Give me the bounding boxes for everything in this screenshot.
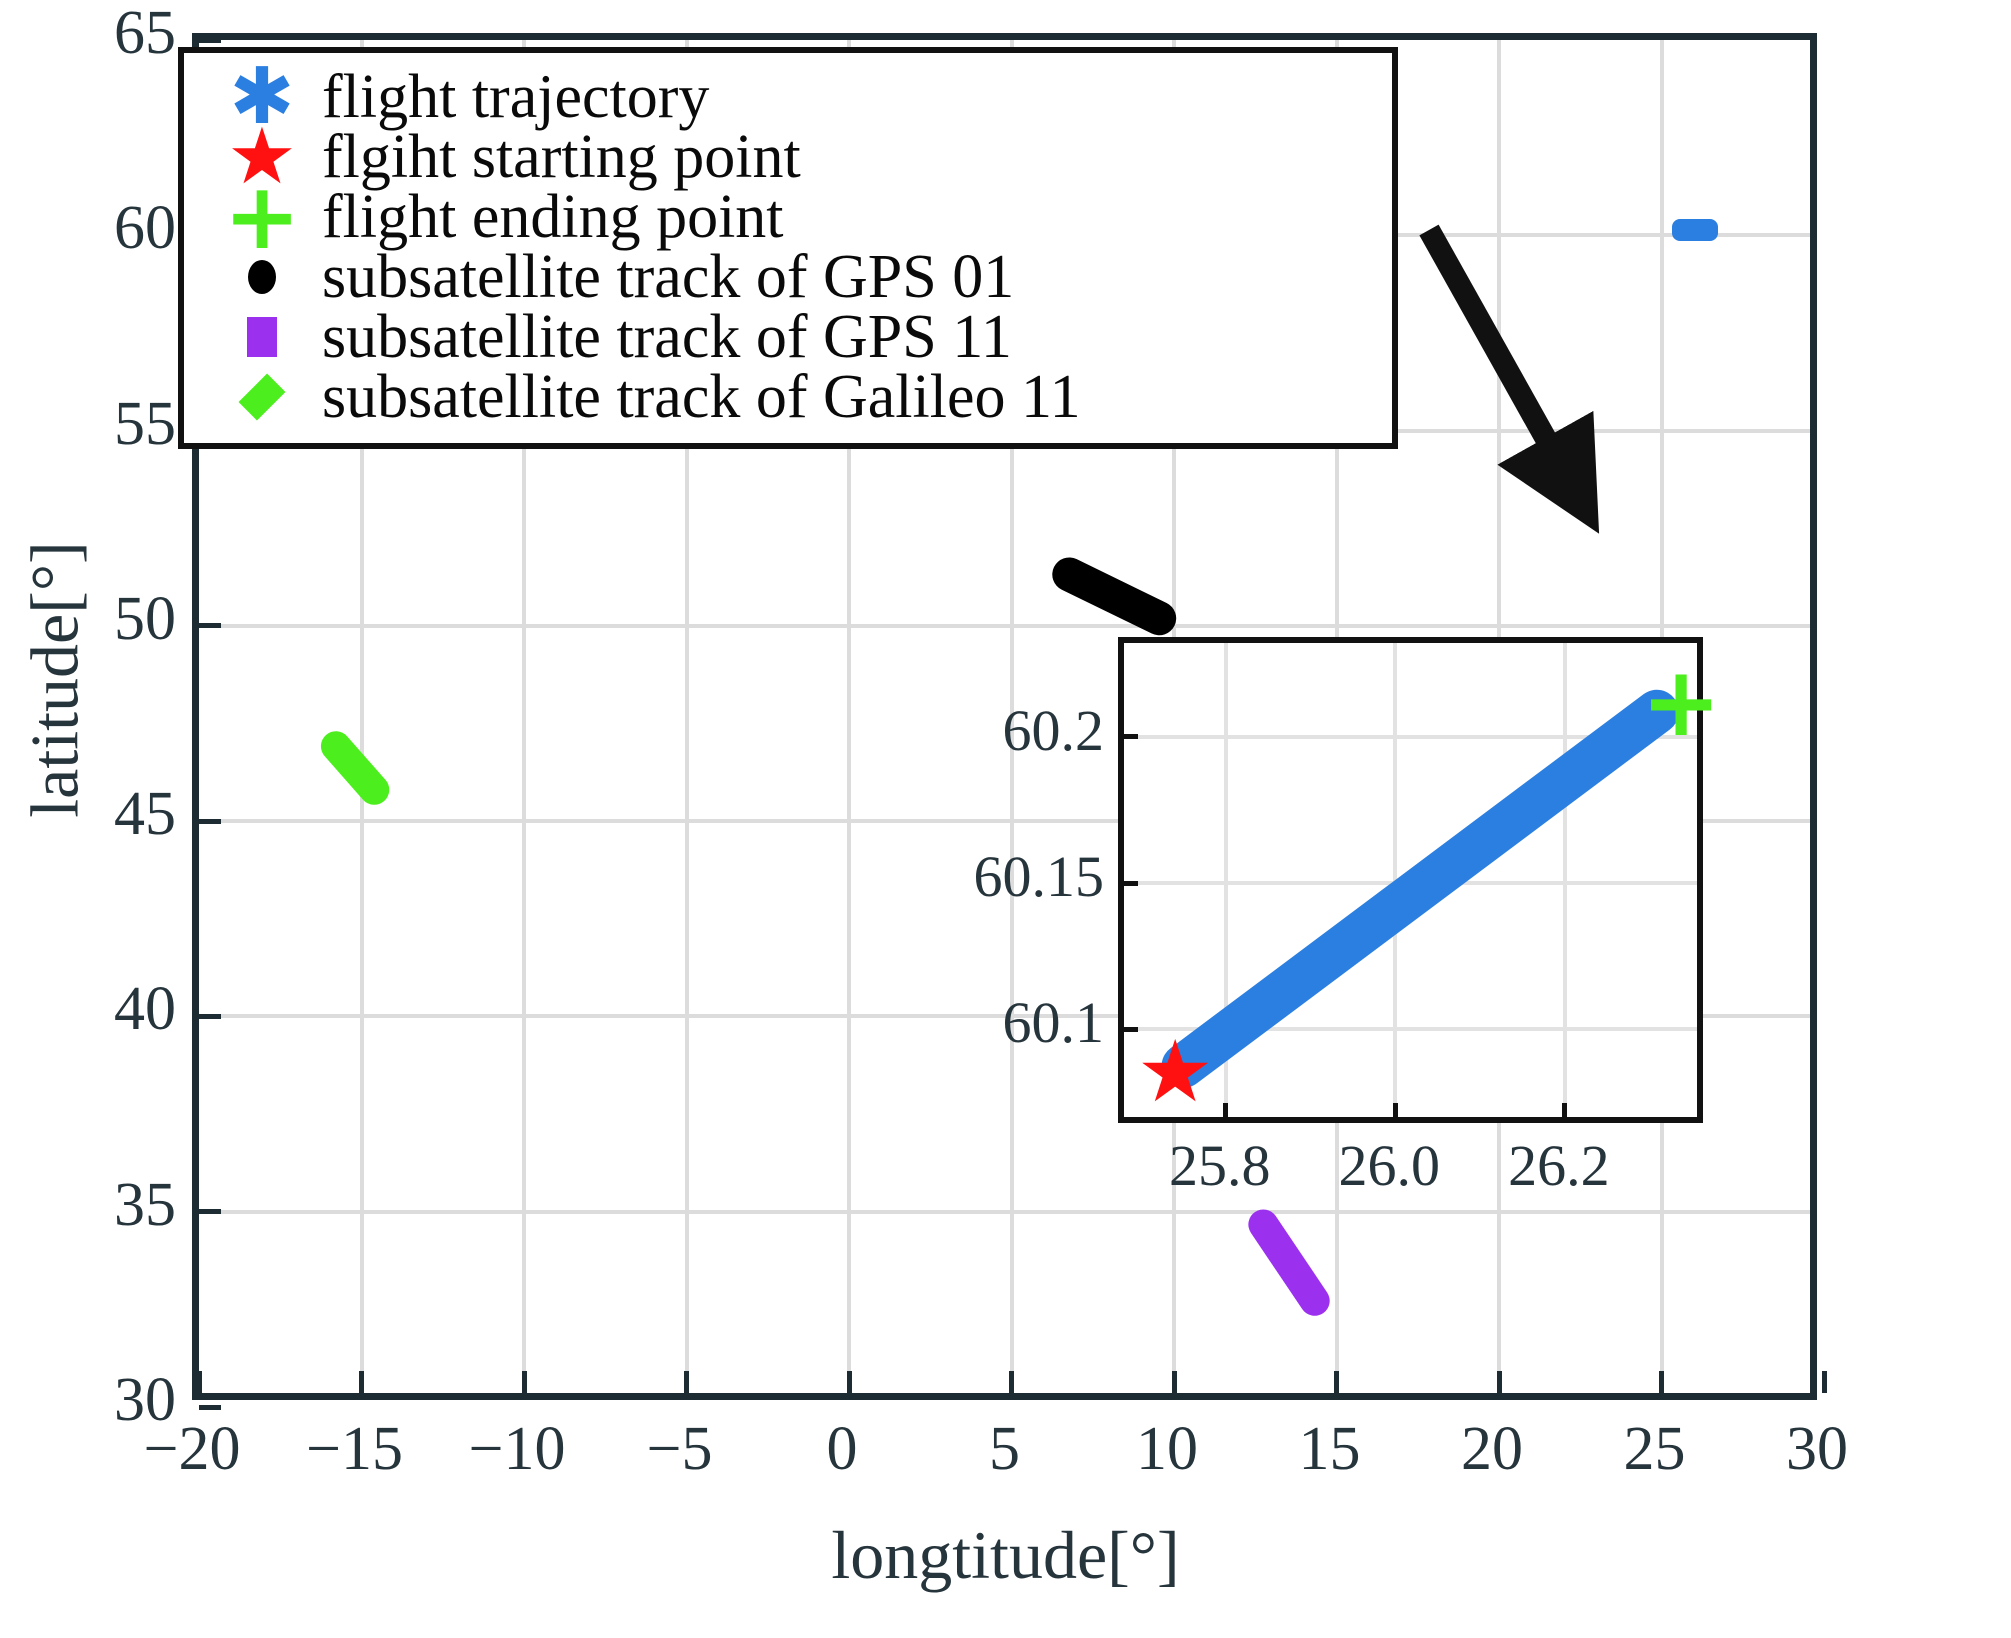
x-axis-tick <box>1009 1371 1014 1393</box>
legend-item[interactable]: subsatellite track of GPS 11 <box>202 307 1374 367</box>
inset-end-plus-icon: + <box>1641 654 1721 750</box>
inset-start-star-icon: ★ <box>1137 1029 1214 1115</box>
plus-marker-icon: + <box>202 187 322 247</box>
y-tick-label: 35 <box>114 1174 176 1236</box>
legend-box: ✱flight trajectory★flgiht starting point… <box>178 47 1398 449</box>
legend-item-label: flight trajectory <box>322 66 709 128</box>
y-axis-tick <box>199 38 221 43</box>
legend-item[interactable]: ★flgiht starting point <box>202 127 1374 187</box>
plus-marker-glyph: + <box>223 187 300 247</box>
inset-y-tick-label: 60.15 <box>974 848 1105 906</box>
x-tick-label: 5 <box>989 1418 1020 1480</box>
inset-x-tick <box>1223 1103 1228 1117</box>
x-tick-label: −5 <box>647 1418 713 1480</box>
y-tick-label: 30 <box>114 1369 176 1431</box>
y-tick-label: 45 <box>114 783 176 845</box>
inset-y-tick-label: 60.2 <box>1003 702 1105 760</box>
inset-gridline-vertical <box>1563 643 1567 1117</box>
x-axis-tick <box>847 1371 852 1393</box>
inset-flight-trajectory <box>1153 681 1688 1097</box>
y-tick-label: 40 <box>114 978 176 1040</box>
track-galileo-11 <box>314 725 395 811</box>
diamond-marker-glyph <box>239 374 286 421</box>
y-axis-tick <box>199 1405 221 1410</box>
inset-y-tick-label: 60.1 <box>1003 994 1105 1052</box>
legend-item[interactable]: subsatellite track of Galileo 11 <box>202 367 1374 427</box>
y-axis-title: latitude[°] <box>16 420 95 940</box>
track-gps-11 <box>1243 1203 1336 1321</box>
inset-y-tick <box>1124 881 1138 886</box>
diamond-marker-icon <box>202 367 322 427</box>
flight-trajectory-cluster <box>1672 219 1718 241</box>
x-tick-label: 10 <box>1136 1418 1198 1480</box>
x-tick-label: 0 <box>827 1418 858 1480</box>
x-axis-tick <box>1659 1371 1664 1393</box>
dot-marker-icon <box>202 247 322 307</box>
gridline-horizontal <box>199 1210 1810 1214</box>
x-axis-tick <box>684 1371 689 1393</box>
y-axis-tick <box>199 1209 221 1214</box>
gridline-horizontal <box>199 624 1810 628</box>
legend-item-label: subsatellite track of Galileo 11 <box>322 366 1081 428</box>
legend-item[interactable]: subsatellite track of GPS 01 <box>202 247 1374 307</box>
chart-figure: −20−15−10−5051015202530 3035404550556065… <box>0 0 2011 1638</box>
x-tick-label: 25 <box>1624 1418 1686 1480</box>
x-tick-label: −10 <box>469 1418 566 1480</box>
legend-item[interactable]: ✱flight trajectory <box>202 67 1374 127</box>
inset-plot-area: ★+ <box>1118 637 1703 1123</box>
x-tick-label: 20 <box>1461 1418 1523 1480</box>
x-axis-tick <box>1497 1371 1502 1393</box>
dot-marker-glyph <box>248 260 276 294</box>
y-tick-label: 65 <box>114 2 176 64</box>
x-axis-title: longtitude[°] <box>0 1516 2011 1595</box>
y-axis-tick <box>199 819 221 824</box>
x-axis-tick <box>359 1371 364 1393</box>
y-axis-tick <box>199 1014 221 1019</box>
y-tick-label: 55 <box>114 393 176 455</box>
y-axis-tick <box>199 623 221 628</box>
x-tick-label: 15 <box>1299 1418 1361 1480</box>
legend-item-label: flgiht starting point <box>322 126 801 188</box>
legend-item-label: subsatellite track of GPS 01 <box>322 246 1014 308</box>
inset-x-tick-label: 26.0 <box>1339 1137 1441 1195</box>
x-axis-tick <box>522 1371 527 1393</box>
x-tick-label: 30 <box>1786 1418 1848 1480</box>
legend-item-label: flight ending point <box>322 186 784 248</box>
inset-x-tick <box>1562 1103 1567 1117</box>
inset-x-tick-label: 25.8 <box>1169 1137 1271 1195</box>
inset-x-tick <box>1393 1103 1398 1117</box>
x-tick-label: −15 <box>306 1418 403 1480</box>
x-axis-tick <box>1334 1371 1339 1393</box>
legend-item[interactable]: +flight ending point <box>202 187 1374 247</box>
y-tick-label: 50 <box>114 588 176 650</box>
square-marker-glyph <box>247 317 277 357</box>
inset-y-tick <box>1124 734 1138 739</box>
x-axis-tick <box>1822 1371 1827 1393</box>
x-axis-tick <box>1172 1371 1177 1393</box>
square-marker-icon <box>202 307 322 367</box>
legend-item-label: subsatellite track of GPS 11 <box>322 306 1012 368</box>
inset-x-tick-label: 26.2 <box>1508 1137 1610 1195</box>
y-tick-label: 60 <box>114 197 176 259</box>
x-axis-tick <box>197 1371 202 1393</box>
